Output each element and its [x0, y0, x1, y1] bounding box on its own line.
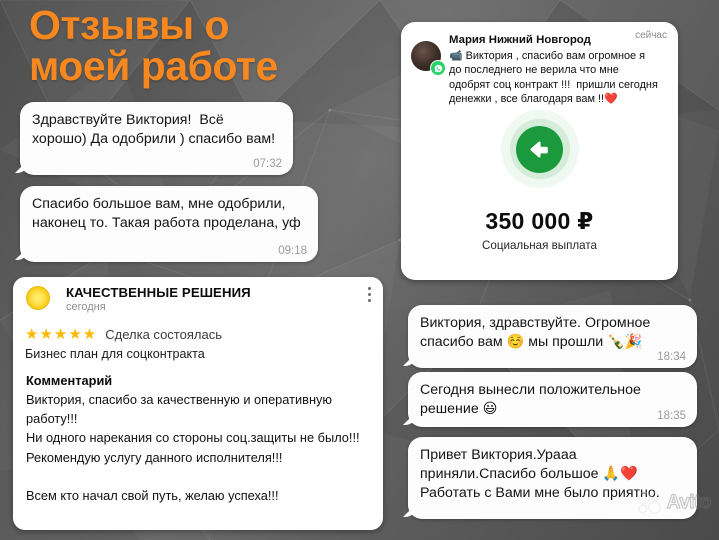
chat-bubble-incoming: Сегодня вынесли положительное решение 😃 …: [408, 372, 697, 427]
page-title: Отзывы о моей работе: [29, 5, 359, 86]
chat-bubble-incoming: Виктория, здравствуйте. Огромное спасибо…: [408, 305, 697, 368]
chat-bubble-timestamp: 18:34: [657, 351, 686, 363]
chat-bubble-text: Привет Виктория.Урааа приняли.Спасибо бо…: [408, 437, 697, 511]
whatsapp-message-card: Мария Нижний Новгород сейчас 📹 Виктория …: [401, 22, 678, 280]
review-card: КАЧЕСТВЕННЫЕ РЕШЕНИЯ сегодня ★★★★★ Сделк…: [13, 277, 383, 530]
chat-bubble-timestamp: 09:18: [278, 245, 307, 257]
page-title-line-2: моей работе: [29, 46, 359, 87]
chat-bubble-incoming: Спасибо большое вам, мне одобрили, након…: [20, 186, 318, 262]
chat-bubble-text: Сегодня вынесли положительное решение 😃: [408, 372, 697, 427]
chat-bubble-timestamp: 07:32: [253, 158, 282, 170]
review-comment-title: Комментарий: [26, 373, 383, 388]
star-rating-icon: ★★★★★: [25, 327, 97, 342]
page-title-line-1: Отзывы о: [29, 2, 229, 48]
sun-logo-avatar: [26, 286, 50, 310]
whatsapp-sender-name: Мария Нижний Новгород: [449, 34, 591, 46]
whatsapp-message-text: 📹 Виктория , спасибо вам огромное я до п…: [449, 49, 660, 107]
payment-block: 350 000 ₽ Социальная выплата: [401, 110, 678, 252]
payment-label: Социальная выплата: [401, 239, 678, 252]
chat-bubble-text: Виктория, здравствуйте. Огромное спасибо…: [408, 305, 697, 360]
whatsapp-card-header: Мария Нижний Новгород сейчас 📹 Виктория …: [401, 22, 678, 113]
arrow-left-incoming-icon: [516, 126, 563, 173]
review-card-header: КАЧЕСТВЕННЫЕ РЕШЕНИЯ сегодня: [13, 277, 383, 321]
chat-bubble-text: Здравствуйте Виктория! Всё хорошо) Да од…: [20, 102, 293, 165]
kebab-menu-icon[interactable]: [368, 287, 371, 302]
chat-bubble-timestamp: 18:35: [657, 410, 686, 422]
payment-amount: 350 000 ₽: [401, 208, 678, 235]
deal-status-label: Сделка состоялась: [105, 327, 222, 342]
payment-icon-mid-ring: [510, 119, 570, 179]
chat-bubble-text: Спасибо большое вам, мне одобрили, након…: [20, 186, 318, 249]
chat-bubble-incoming: Здравствуйте Виктория! Всё хорошо) Да од…: [20, 102, 293, 175]
review-comment-body: Виктория, спасибо за качественную и опер…: [26, 390, 370, 505]
review-date: сегодня: [66, 301, 373, 313]
review-author: КАЧЕСТВЕННЫЕ РЕШЕНИЯ: [66, 285, 373, 300]
poster-canvas: Отзывы о моей работе Здравствуйте Виктор…: [0, 0, 719, 540]
review-service-name: Бизнес план для соцконтракта: [25, 347, 383, 361]
payment-icon-outer-ring: [501, 110, 579, 188]
chat-bubble-incoming: Привет Виктория.Урааа приняли.Спасибо бо…: [408, 437, 697, 519]
whatsapp-timestamp: сейчас: [635, 30, 667, 41]
whatsapp-icon: [430, 60, 446, 76]
review-rating-row: ★★★★★ Сделка состоялась: [25, 327, 383, 342]
